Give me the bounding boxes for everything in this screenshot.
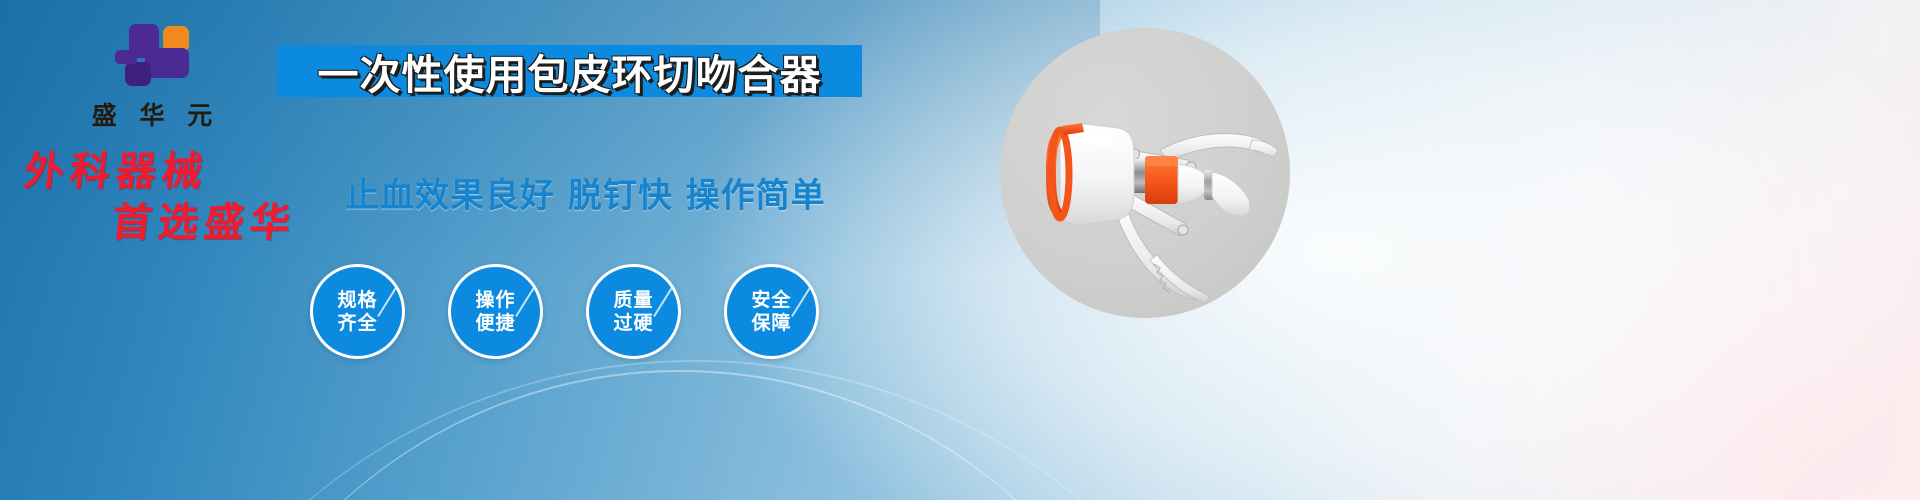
product-image[interactable]	[1000, 28, 1290, 318]
feature-badge[interactable]: 操作 便捷	[448, 264, 543, 359]
page-title: 一次性使用包皮环切吻合器	[318, 41, 822, 101]
company-name: 盛 华 元	[62, 96, 242, 132]
slash-decoration-icon	[653, 287, 673, 317]
promo-banner: 盛 华 元 一次性使用包皮环切吻合器 外科器械 首选盛华 止血效果良好 脱钉快 …	[0, 0, 1920, 500]
slash-decoration-icon	[515, 287, 535, 317]
feature-label-line-1: 操作	[475, 289, 515, 311]
feature-label-line-2: 齐全	[337, 312, 377, 334]
feature-label-line-2: 保障	[751, 312, 791, 334]
logo-shape-lower-right	[145, 48, 189, 78]
feature-badge[interactable]: 质量 过硬	[586, 264, 681, 359]
feature-label-line-1: 安全	[751, 289, 791, 311]
feature-label-line-2: 过硬	[613, 312, 653, 334]
red-calligraphy-slogan: 外科器械 首选盛华	[24, 152, 344, 244]
logo-shape-lower-left	[125, 62, 151, 86]
background-arc-outer	[120, 360, 1270, 500]
feature-badge[interactable]: 安全 保障	[724, 264, 819, 359]
slash-decoration-icon	[791, 287, 811, 317]
feature-badge[interactable]: 规格 齐全	[310, 264, 405, 359]
red-slogan-line-1: 外科器械	[22, 152, 346, 193]
feature-label-line-1: 规格	[337, 289, 377, 311]
feature-badge-list: 规格 齐全 操作 便捷 质量 过硬 安全 保障	[310, 264, 819, 359]
brand-logo[interactable]: 盛 华 元	[62, 24, 242, 132]
slash-decoration-icon	[377, 287, 397, 317]
background-arc-inner	[180, 370, 1180, 500]
subtitle: 止血效果良好 脱钉快 操作简单	[345, 168, 826, 217]
logo-mark-icon	[115, 24, 189, 90]
feature-label-line-1: 质量	[613, 289, 653, 311]
product-illustration-icon	[1000, 28, 1290, 318]
product-title-bar: 一次性使用包皮环切吻合器	[277, 45, 862, 97]
red-slogan-line-2: 首选盛华	[110, 203, 346, 244]
feature-label-line-2: 便捷	[475, 312, 515, 334]
logo-shape-left-bar	[115, 50, 137, 64]
